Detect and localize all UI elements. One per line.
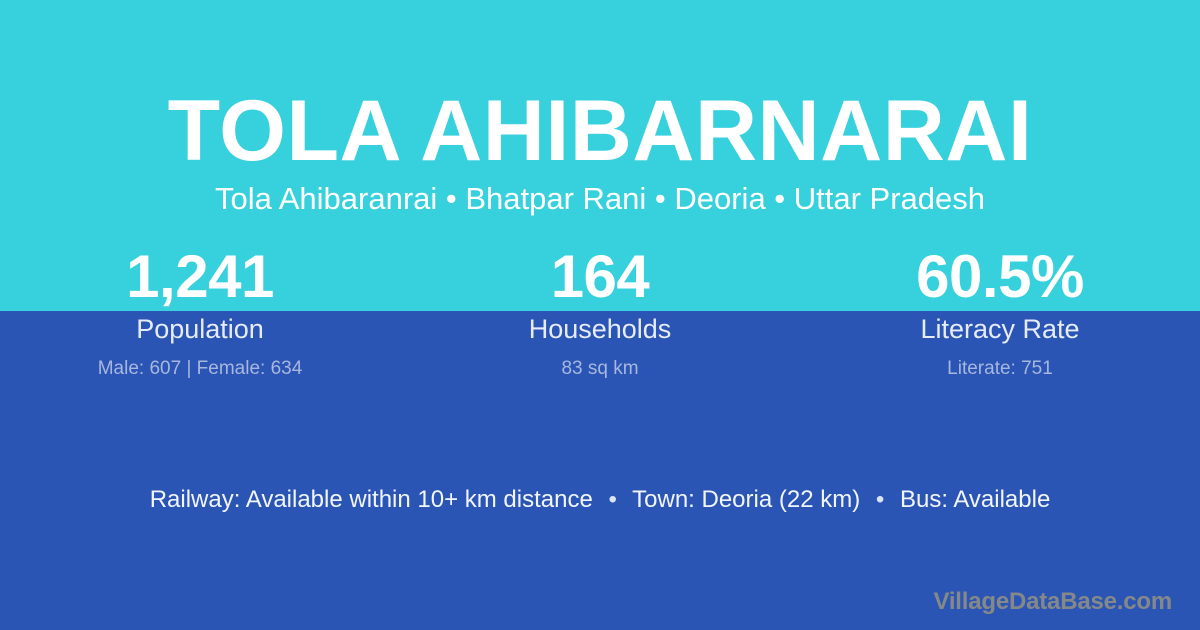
stat-sub-households: 83 sq km: [400, 357, 800, 382]
stat-label-literacy-rate: Literacy Rate: [800, 313, 1200, 347]
site-watermark: VillageDataBase.com: [933, 588, 1172, 617]
stat-label-households: Households: [400, 313, 800, 347]
village-stats-card: TOLA AHIBARNARAI Tola Ahibaranrai • Bhat…: [0, 0, 1200, 630]
stat-label-population: Population: [0, 313, 400, 347]
breadcrumb: Tola Ahibaranrai • Bhatpar Rani • Deoria…: [0, 180, 1200, 219]
amenities-line: Railway: Available within 10+ km distanc…: [0, 484, 1200, 515]
stat-block-literacy-rate: 60.5% Literacy Rate Literate: 751: [800, 243, 1200, 382]
stats-row: 1,241 Population Male: 607 | Female: 634…: [0, 243, 1200, 382]
stat-block-households: 164 Households 83 sq km: [400, 243, 800, 382]
stat-value-households: 164: [400, 243, 800, 310]
amenity-bus: Bus: Available: [900, 486, 1050, 513]
stat-value-literacy-rate: 60.5%: [800, 243, 1200, 310]
stat-value-population: 1,241: [0, 243, 400, 310]
amenity-railway: Railway: Available within 10+ km distanc…: [150, 486, 593, 513]
stat-sub-literacy-rate: Literate: 751: [800, 357, 1200, 382]
amenity-separator-2: •: [867, 484, 893, 515]
amenity-separator-1: •: [600, 484, 626, 515]
stat-sub-population: Male: 607 | Female: 634: [0, 357, 400, 382]
page-title: TOLA AHIBARNARAI: [0, 88, 1200, 174]
amenity-town: Town: Deoria (22 km): [632, 486, 860, 513]
stat-block-population: 1,241 Population Male: 607 | Female: 634: [0, 243, 400, 382]
